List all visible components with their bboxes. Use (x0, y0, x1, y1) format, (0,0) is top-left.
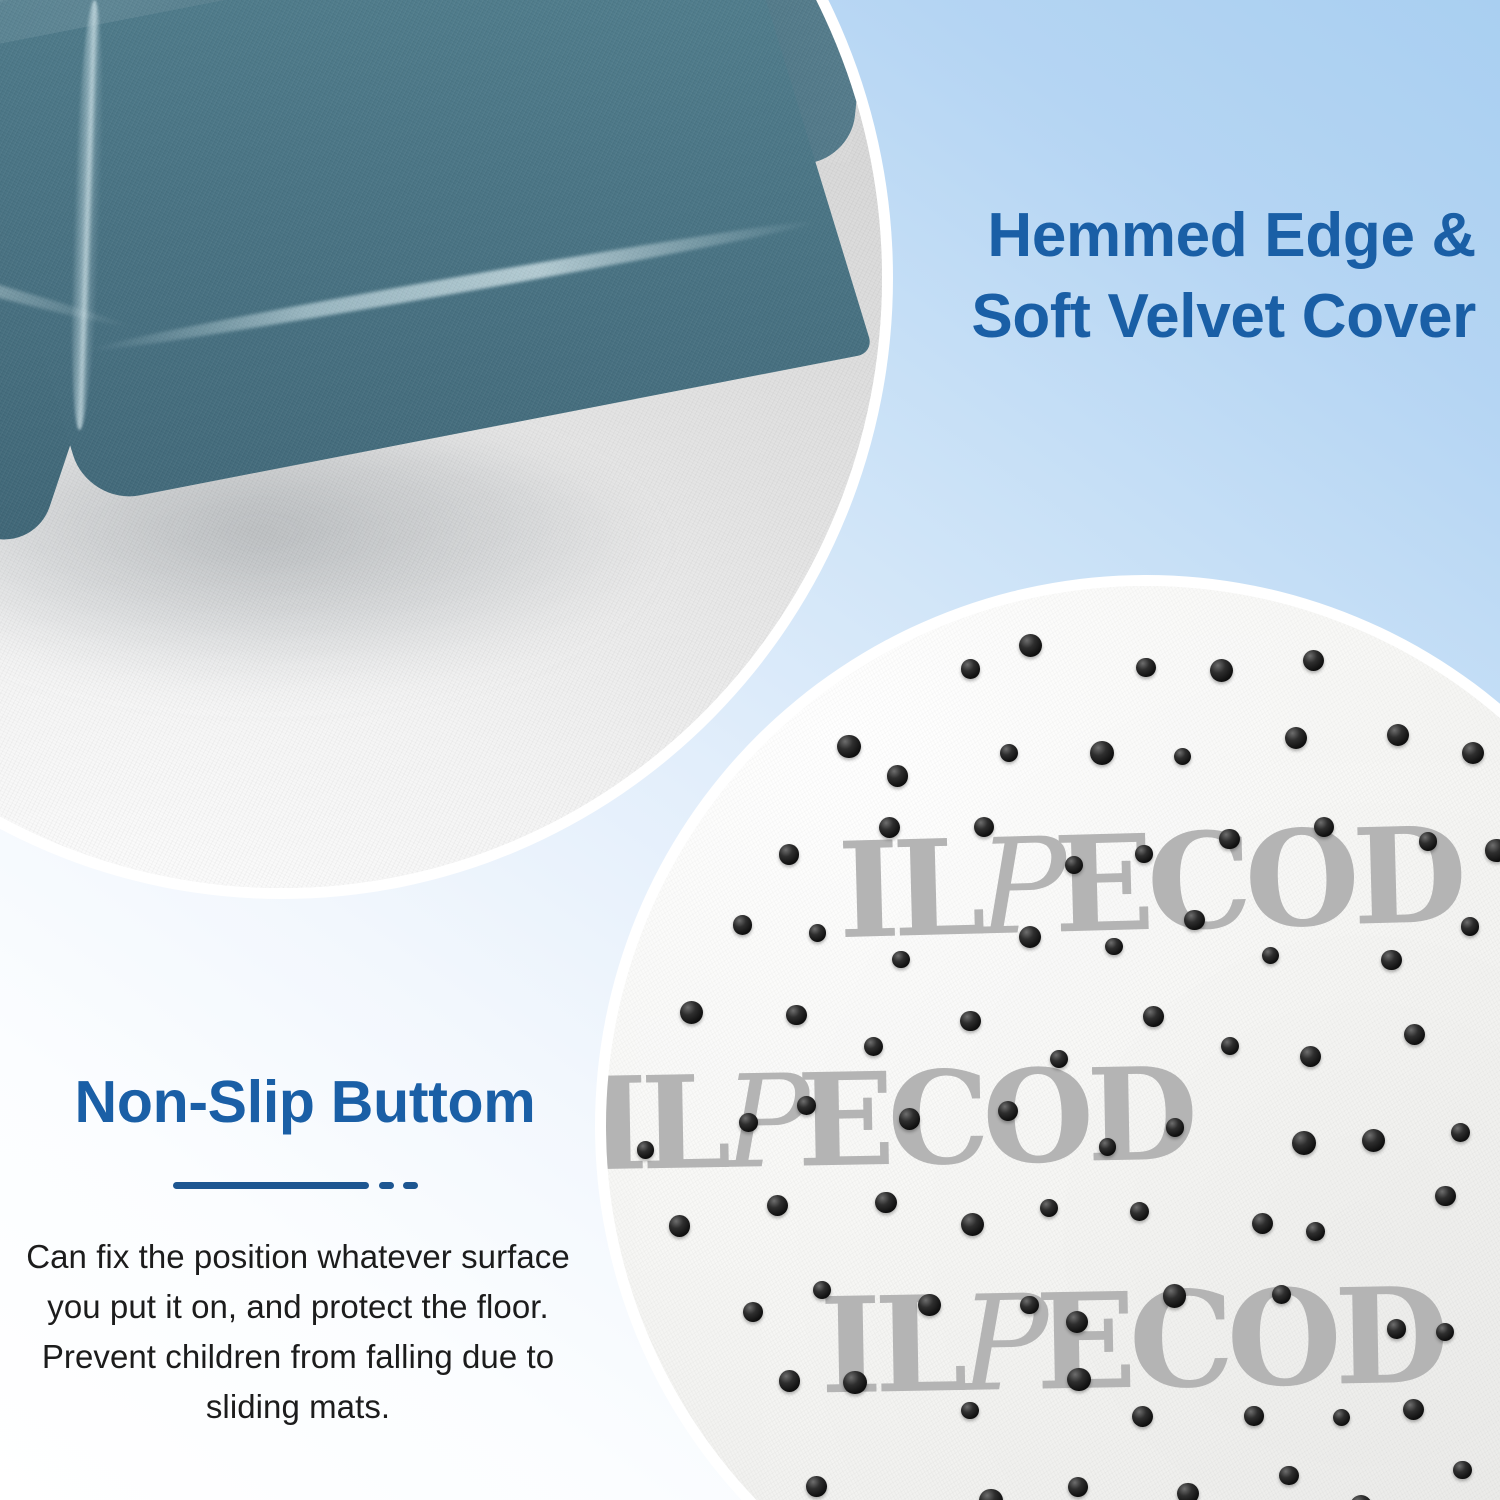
divider-bar (173, 1182, 369, 1189)
grip-dot (887, 765, 908, 786)
heading-divider (173, 1180, 423, 1188)
grip-dot (1387, 1319, 1406, 1338)
grip-dot (1184, 910, 1205, 931)
grip-dot (1090, 741, 1114, 765)
grip-dot (1050, 1050, 1068, 1068)
grip-dot (1210, 659, 1233, 682)
grip-dot (1485, 839, 1500, 861)
grip-dot (1163, 1284, 1187, 1308)
non-slip-photo-circle: ILPECOD ILPECOD ILPECOD (606, 586, 1500, 1500)
non-slip-description: Can fix the position whatever surface yo… (18, 1232, 578, 1433)
divider-dash-2 (403, 1182, 418, 1189)
grip-dot (1292, 1131, 1316, 1155)
grip-dot (1136, 658, 1155, 677)
grip-dot (779, 844, 800, 865)
grip-dot (1065, 856, 1083, 874)
grip-dot (1435, 1186, 1456, 1207)
grip-dot (892, 951, 910, 969)
grip-dot (1135, 845, 1152, 862)
grip-dot (743, 1302, 763, 1322)
grip-dot (1166, 1118, 1185, 1137)
grip-dot (1132, 1406, 1153, 1427)
grip-dot (1000, 744, 1018, 762)
grip-dot (1066, 1311, 1088, 1333)
grip-dot (1462, 742, 1484, 764)
grip-dot (806, 1476, 827, 1497)
grip-dot (843, 1371, 866, 1394)
grip-dot (1314, 817, 1334, 837)
grip-dot (1279, 1466, 1299, 1486)
grip-dot (1451, 1123, 1470, 1142)
grip-dot (1381, 950, 1402, 971)
grip-dot (1419, 832, 1437, 850)
grip-dot (813, 1281, 831, 1299)
grip-dot (1219, 829, 1239, 849)
grip-dot (1019, 926, 1041, 948)
grip-dot (739, 1113, 757, 1131)
grip-dot (1067, 1368, 1090, 1391)
grip-dot (1174, 748, 1191, 765)
grip-dot (1143, 1006, 1164, 1027)
grip-dot (1262, 947, 1279, 964)
grip-dot (1040, 1199, 1058, 1217)
heading-line-1: Hemmed Edge & (716, 196, 1476, 277)
non-slip-text-block: Non-Slip Buttom Can fix the position wha… (18, 1068, 578, 1432)
grip-dot (899, 1108, 920, 1129)
grip-dot (797, 1096, 816, 1115)
grip-dot (875, 1192, 896, 1213)
grip-dot (669, 1215, 690, 1236)
grip-dot (961, 659, 980, 678)
grip-dot (837, 735, 860, 758)
divider-dash-1 (379, 1182, 394, 1189)
grip-dot (918, 1294, 940, 1316)
grip-dot (960, 1011, 980, 1031)
grip-dot (786, 1005, 806, 1025)
grip-dot (961, 1402, 978, 1419)
infographic-canvas: ILPECOD ILPECOD ILPECOD Hemmed Edge & So… (0, 0, 1500, 1500)
grip-dot (1020, 1296, 1038, 1314)
grip-dot (1221, 1037, 1240, 1056)
non-slip-heading: Non-Slip Buttom (18, 1068, 578, 1138)
grip-dot (1244, 1406, 1263, 1425)
grip-dot (1453, 1461, 1472, 1480)
grip-dot (1306, 1222, 1325, 1241)
brand-watermark: ILPECOD (836, 810, 1461, 958)
grip-dot (809, 924, 827, 942)
grip-dot (879, 817, 900, 838)
heading-line-2: Soft Velvet Cover (716, 277, 1476, 358)
grip-dot (1105, 938, 1122, 955)
grip-dot (1130, 1202, 1149, 1221)
hemmed-edge-heading: Hemmed Edge & Soft Velvet Cover (716, 196, 1476, 357)
grip-dot (1068, 1477, 1088, 1497)
brand-watermark: ILPECOD (819, 1271, 1443, 1414)
grip-dot (733, 915, 753, 935)
grip-dot (1252, 1213, 1273, 1234)
